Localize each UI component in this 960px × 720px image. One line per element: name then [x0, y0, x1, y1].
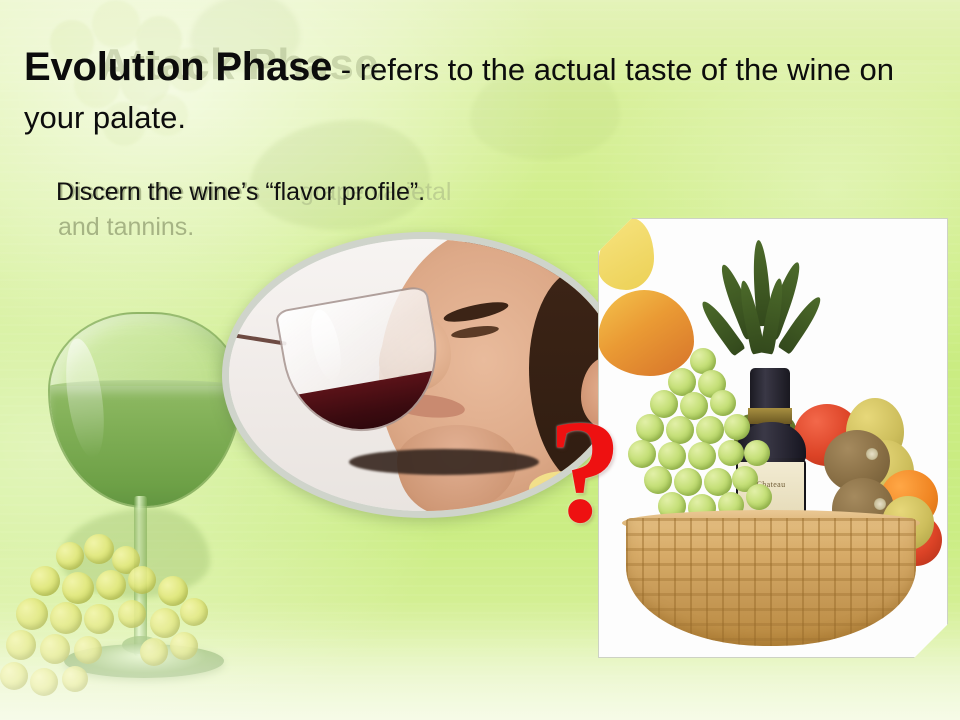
slide-body-line-1: Discern the wine’s “flavor profile”. [56, 176, 696, 208]
slide-title-emphasis: Evolution Phase [24, 45, 332, 89]
mango [598, 290, 694, 376]
ghost-body-line-2: and tannins. [58, 213, 194, 242]
wicker-basket [626, 518, 916, 646]
fruit-basket-photo-card: Chateau [598, 218, 948, 658]
presentation-slide: Attack Phase Discern the wine’s grape va… [0, 0, 960, 720]
photo-bottom-shadow [349, 449, 539, 475]
red-question-mark: ? [548, 398, 622, 546]
slide-title: Evolution Phase - refers to the actual t… [24, 44, 924, 141]
basket-weave-texture [626, 518, 916, 646]
wine-glass-bowl [48, 312, 242, 508]
